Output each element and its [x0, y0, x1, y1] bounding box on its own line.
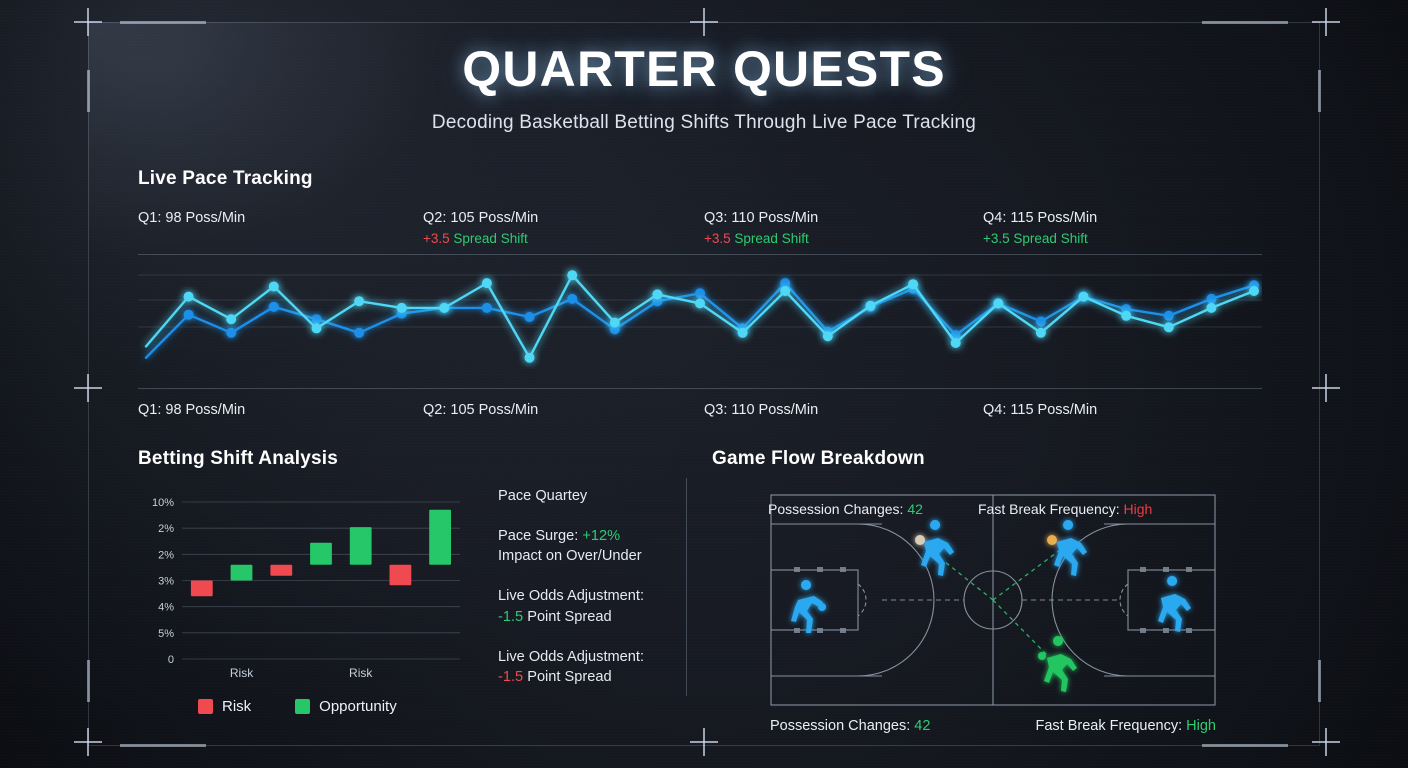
quarter-top-q1: Q1: 98 Poss/Min: [138, 210, 245, 231]
court-overlay-possession-value: 42: [907, 501, 923, 517]
pace-line-chart-svg: [138, 255, 1262, 388]
series-point: [226, 314, 236, 324]
quarter-top-q1-label: Q1: 98 Poss/Min: [138, 210, 245, 226]
metric-pace-surge-label: Pace Surge:: [498, 528, 582, 544]
series-point: [951, 338, 961, 348]
bar-y-tick-label: 2%: [158, 549, 174, 561]
court-footer: Possession Changes: 42 Fast Break Freque…: [770, 718, 1216, 734]
frame-tick-top-a: [120, 21, 206, 24]
series-point: [908, 279, 918, 289]
quarter-top-q3-shift: +3.5 Spread Shift: [704, 231, 818, 246]
page-header: QUARTER QUESTS Decoding Basketball Betti…: [0, 40, 1408, 134]
player-left-key: [791, 580, 826, 633]
series-point: [482, 278, 492, 288]
metric-odds-adj-1-label: Live Odds Adjustment:: [498, 586, 688, 607]
bar: [270, 565, 292, 576]
bar-y-tick-label: 10%: [152, 497, 174, 509]
series-point: [1121, 311, 1131, 321]
series-point: [184, 310, 194, 320]
series-point: [610, 318, 620, 328]
quarter-top-q4: Q4: 115 Poss/Min +3.5 Spread Shift: [983, 210, 1097, 246]
quarter-top-q2-shift: +3.5 Spread Shift: [423, 231, 538, 246]
series-point: [439, 303, 449, 313]
series-point: [1206, 294, 1216, 304]
series-point: [269, 302, 279, 312]
series-point: [354, 296, 364, 306]
gameflow-section-title: Game Flow Breakdown: [712, 448, 1232, 470]
court-footer-fastbreak: Fast Break Frequency: High: [1035, 718, 1216, 734]
series-point: [184, 292, 194, 302]
pace-series-b: [146, 278, 1259, 358]
quarter-top-q4-shift: +3.5 Spread Shift: [983, 231, 1097, 246]
legend-item-risk: Risk: [198, 698, 251, 715]
series-point: [1249, 286, 1259, 296]
metric-odds-adj-1-value-line: -1.5 Point Spread: [498, 607, 688, 628]
basketball-court-diagram: [770, 494, 1216, 706]
player-right-mid: [1047, 520, 1087, 576]
metric-pace-surge-sub: Impact on Over/Under: [498, 546, 688, 567]
series-point: [567, 294, 577, 304]
series-point: [695, 288, 705, 298]
bar-y-tick-label: 0: [168, 654, 174, 666]
legend-swatch-risk: [198, 699, 213, 714]
series-point: [312, 314, 322, 324]
series-point: [738, 328, 748, 338]
series-point: [1164, 311, 1174, 321]
series-point: [1164, 322, 1174, 332]
bar-x-tick-label: Risk: [230, 666, 254, 680]
metric-odds-adj-2-label: Live Odds Adjustment:: [498, 647, 688, 668]
series-point: [993, 298, 1003, 308]
metric-odds-adj-2-value: -1.5: [498, 669, 523, 685]
betting-bar-chart-svg: 10%2%2%3%4%5%0 RiskRisk: [138, 494, 468, 684]
betting-shift-section: Betting Shift Analysis 10%2%2%3%4%5%0 Ri…: [138, 448, 686, 715]
metric-heading: Pace Quartey: [498, 486, 688, 507]
quarter-top-q4-shift-value: +3.5: [983, 231, 1010, 246]
frame-tick-left-b: [87, 660, 90, 702]
quarter-labels-bottom: Q1: 98 Poss/Min Q2: 105 Poss/Min Q3: 110…: [138, 402, 1262, 426]
series-point: [312, 323, 322, 333]
court-footer-possession-label: Possession Changes:: [770, 718, 914, 734]
series-point: [567, 270, 577, 280]
bar-x-tick-label: Risk: [349, 666, 373, 680]
quarter-bottom-q3: Q3: 110 Poss/Min: [704, 402, 818, 418]
bar-chart-x-labels: RiskRisk: [230, 666, 373, 680]
trajectory-lines: [930, 550, 1060, 656]
series-point: [823, 331, 833, 341]
court-overlay-possession-label: Possession Changes:: [768, 501, 907, 517]
quarter-bottom-q2: Q2: 105 Poss/Min: [423, 402, 538, 418]
bar-chart-y-labels: 10%2%2%3%4%5%0: [152, 497, 174, 666]
pace-line-chart: [138, 254, 1262, 389]
player-left-mid: [915, 520, 954, 576]
bar: [231, 565, 253, 581]
series-point: [780, 286, 790, 296]
legend-swatch-opportunity: [295, 699, 310, 714]
page-title: QUARTER QUESTS: [0, 40, 1408, 98]
quarter-bottom-q1: Q1: 98 Poss/Min: [138, 402, 245, 418]
frame-tick-right-b: [1318, 660, 1321, 702]
series-point: [482, 303, 492, 313]
legend-item-opportunity: Opportunity: [295, 698, 397, 715]
metric-odds-adj-1-rest: Point Spread: [523, 609, 611, 625]
court-footer-possession: Possession Changes: 42: [770, 718, 930, 734]
legend-label-risk: Risk: [222, 698, 251, 715]
bar-y-tick-label: 4%: [158, 602, 174, 614]
court-players: [791, 520, 1191, 692]
quarter-top-q3-shift-value: +3.5: [704, 231, 731, 246]
quarter-bottom-q4: Q4: 115 Poss/Min: [983, 402, 1097, 418]
bar: [429, 510, 451, 565]
series-point: [695, 298, 705, 308]
series-point: [1206, 303, 1216, 313]
quarter-top-q4-label: Q4: 115 Poss/Min: [983, 210, 1097, 226]
series-point: [1036, 317, 1046, 327]
metric-pace-surge: Pace Surge: +12%: [498, 526, 688, 547]
legend-label-opportunity: Opportunity: [319, 698, 397, 715]
quarter-top-q2-shift-text: Spread Shift: [450, 231, 528, 246]
series-point: [866, 301, 876, 311]
metric-odds-adj-1-block: Live Odds Adjustment: -1.5 Point Spread: [498, 586, 688, 627]
page-subtitle: Decoding Basketball Betting Shifts Throu…: [0, 112, 1408, 134]
quarter-top-q4-shift-text: Spread Shift: [1010, 231, 1088, 246]
metric-odds-adj-1-value: -1.5: [498, 609, 523, 625]
series-point: [269, 282, 279, 292]
series-point: [652, 289, 662, 299]
live-pace-tracking-section: Live Pace Tracking Q1: 98 Poss/Min Q2: 1…: [138, 168, 1262, 426]
game-flow-section: Game Flow Breakdown Possession Changes: …: [712, 448, 1232, 734]
series-point: [525, 353, 535, 363]
bar-y-tick-label: 3%: [158, 576, 174, 588]
metric-odds-adj-2-value-line: -1.5 Point Spread: [498, 667, 688, 688]
metric-odds-adj-2-block: Live Odds Adjustment: -1.5 Point Spread: [498, 647, 688, 688]
bar: [191, 581, 213, 597]
court-footer-possession-value: 42: [914, 718, 930, 734]
series-point: [354, 328, 364, 338]
betting-section-title: Betting Shift Analysis: [138, 448, 686, 470]
bar-y-tick-label: 5%: [158, 628, 174, 640]
series-point: [1079, 292, 1089, 302]
series-line: [146, 275, 1254, 358]
series-point: [397, 303, 407, 313]
bar: [350, 527, 372, 565]
court-overlay-fastbreak: Fast Break Frequency: High: [978, 501, 1152, 517]
betting-metrics-panel: Pace Quartey Pace Surge: +12% Impact on …: [498, 486, 688, 707]
frame-tick-bottom-a: [120, 744, 206, 747]
metric-pace-surge-value: +12%: [582, 528, 620, 544]
player-right-key: [1158, 576, 1191, 632]
court-footer-fastbreak-label: Fast Break Frequency:: [1035, 718, 1186, 734]
quarter-top-q2-shift-value: +3.5: [423, 231, 450, 246]
bar-y-tick-label: 2%: [158, 523, 174, 535]
court-overlay-fastbreak-value: High: [1124, 501, 1153, 517]
player-bottom-center: [1038, 636, 1077, 692]
series-point: [525, 312, 535, 322]
quarter-top-q2: Q2: 105 Poss/Min +3.5 Spread Shift: [423, 210, 538, 246]
court-overlay-fastbreak-label: Fast Break Frequency:: [978, 501, 1124, 517]
quarter-labels-top: Q1: 98 Poss/Min Q2: 105 Poss/Min +3.5 Sp…: [138, 210, 1262, 254]
pace-section-title: Live Pace Tracking: [138, 168, 1262, 190]
series-point: [1036, 328, 1046, 338]
bar: [390, 565, 412, 585]
quarter-top-q3-label: Q3: 110 Poss/Min: [704, 210, 818, 226]
metric-odds-adj-2-rest: Point Spread: [523, 669, 611, 685]
court-svg: [770, 494, 1216, 706]
court-container: Possession Changes: 42 Fast Break Freque…: [712, 494, 1232, 706]
bar-chart-gridlines: [182, 502, 460, 659]
bar: [310, 543, 332, 565]
betting-bar-chart: 10%2%2%3%4%5%0 RiskRisk: [138, 494, 468, 684]
frame-tick-top-b: [1202, 21, 1288, 24]
quarter-top-q3: Q3: 110 Poss/Min +3.5 Spread Shift: [704, 210, 818, 246]
court-footer-fastbreak-value: High: [1186, 718, 1216, 734]
metric-pace-surge-block: Pace Surge: +12% Impact on Over/Under: [498, 526, 688, 567]
quarter-top-q3-shift-text: Spread Shift: [731, 231, 809, 246]
series-point: [226, 328, 236, 338]
bar-chart-bars: [191, 510, 451, 596]
frame-tick-bottom-b: [1202, 744, 1288, 747]
court-overlay-possession: Possession Changes: 42: [768, 501, 923, 517]
metric-heading-block: Pace Quartey: [498, 486, 688, 507]
quarter-top-q2-label: Q2: 105 Poss/Min: [423, 210, 538, 226]
